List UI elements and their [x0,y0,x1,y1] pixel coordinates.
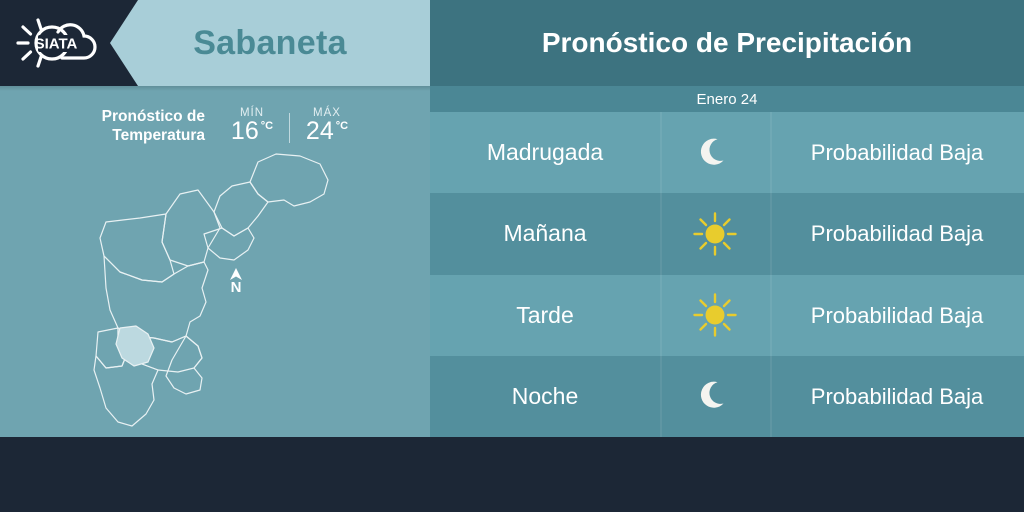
compass-label: N [222,281,250,295]
precipitation-title: Pronóstico de Precipitación [542,27,912,59]
table-row: Tarde [430,275,1024,356]
temperature-label-line1: Pronóstico de [55,107,205,126]
period-cell: Madrugada [430,112,660,193]
forecast-rows: Madrugada Probabilidad Baja Mañana [430,112,1024,437]
sun-icon [690,209,740,259]
weather-icon-cell [660,193,770,274]
column-divider-2 [770,112,772,437]
forecast-date-bar: Enero 24 [430,86,1024,112]
probability-cell: Probabilidad Baja [770,356,1024,437]
probability-cell: Probabilidad Baja [770,112,1024,193]
compass-north: N [222,268,250,295]
header-shadow [0,86,430,91]
probability-cell: Probabilidad Baja [770,275,1024,356]
left-panel: SIATA Sabaneta Pronóstico de Temperatura… [0,0,430,437]
sun-cloud-icon: SIATA [12,14,102,72]
weather-icon-cell [660,356,770,437]
temperature-divider [289,113,290,143]
table-row: Mañana [430,193,1024,274]
period-label: Tarde [516,302,574,329]
period-label: Mañana [503,220,586,247]
probability-label: Probabilidad Baja [811,383,983,410]
temperature-block: Pronóstico de Temperatura MÍN 16 °C MÁX … [55,98,385,154]
temperature-values: MÍN 16 °C MÁX 24 °C [219,107,360,145]
temperature-min-value: 16 [231,118,259,145]
temperature-max-unit: °C [336,120,348,132]
footer: @siatamedellin www.siata.gov.co Con el a… [0,437,1024,512]
precipitation-header: Pronóstico de Precipitación [430,0,1024,86]
probability-label: Probabilidad Baja [811,302,983,329]
probability-label: Probabilidad Baja [811,139,983,166]
temperature-label-line2: Temperatura [55,126,205,145]
moon-icon [692,130,738,176]
temperature-min: MÍN 16 °C [219,107,285,145]
city-title: Sabaneta [110,0,430,86]
weather-icon-cell [660,112,770,193]
table-row: Noche Probabilidad Baja [430,356,1024,437]
siata-logo-text: SIATA [35,36,78,53]
period-cell: Noche [430,356,660,437]
temperature-label: Pronóstico de Temperatura [55,107,205,145]
period-label: Madrugada [487,139,603,166]
temperature-max: MÁX 24 °C [294,107,360,145]
period-label: Noche [512,383,578,410]
weather-icon-cell [660,275,770,356]
temperature-max-value: 24 [306,118,334,145]
sun-icon [690,290,740,340]
table-row: Madrugada Probabilidad Baja [430,112,1024,193]
probability-label: Probabilidad Baja [811,220,983,247]
column-divider-1 [660,112,662,437]
period-cell: Mañana [430,193,660,274]
right-panel: Pronóstico de Precipitación Enero 24 Mad… [430,0,1024,437]
infographic-canvas: SIATA Sabaneta Pronóstico de Temperatura… [0,0,1024,512]
aburra-valley-map [62,150,362,432]
period-cell: Tarde [430,275,660,356]
moon-icon [692,373,738,419]
temperature-min-unit: °C [261,120,273,132]
probability-cell: Probabilidad Baja [770,193,1024,274]
forecast-date: Enero 24 [697,91,758,108]
